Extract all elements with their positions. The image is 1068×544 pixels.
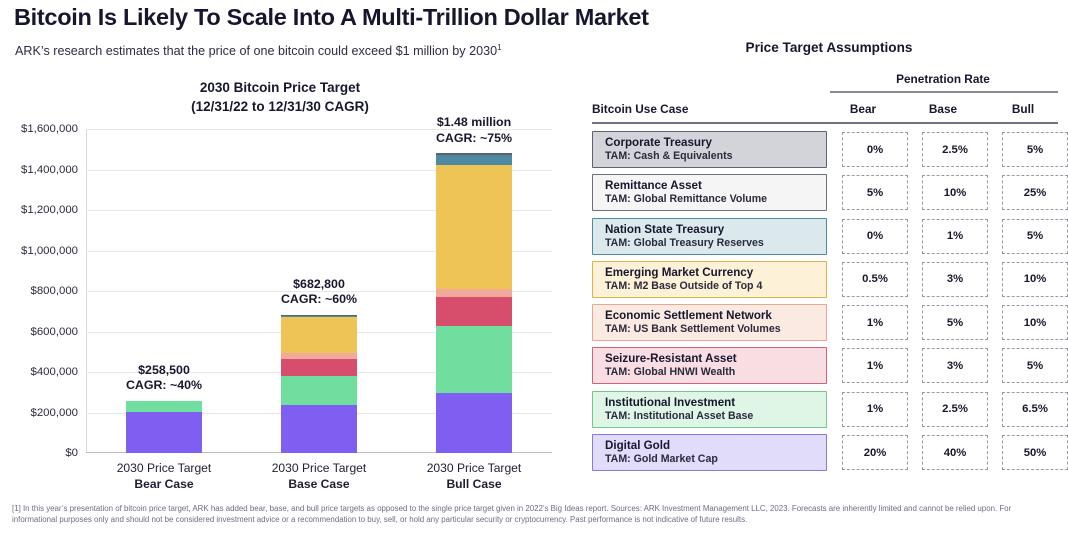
bar-segment [436,297,512,326]
penetration-rate-cell-base[interactable]: 10% [922,175,988,210]
use-case-tam: TAM: Global HNWI Wealth [605,366,826,379]
bar-total-value: $682,800 [244,277,394,293]
use-case-cell[interactable]: Emerging Market CurrencyTAM: M2 Base Out… [592,261,827,298]
penetration-rate-cell-bull[interactable]: 6.5% [1002,392,1068,427]
x-axis-category-label: 2030 Price TargetBull Case [389,461,559,492]
use-case-cell[interactable]: Economic Settlement NetworkTAM: US Bank … [592,304,827,341]
y-axis-tick-label: $400,000 [30,366,78,378]
bar-segment [281,317,357,353]
column-header-bull: Bull [990,102,1056,116]
bar-segment [281,405,357,453]
use-case-name: Nation State Treasury [605,223,826,237]
use-case-tam: TAM: Cash & Equivalents [605,150,826,163]
x-label-line2: Bear Case [134,477,193,491]
bitcoin-price-target-chart: 2030 Bitcoin Price Target (12/31/22 to 1… [0,78,570,498]
header-rule [592,122,1058,124]
bar-segment [436,165,512,289]
table-row[interactable]: Institutional InvestmentTAM: Institution… [592,391,1062,432]
penetration-rate-cell-base[interactable]: 40% [922,435,988,470]
use-case-name: Economic Settlement Network [605,309,826,323]
use-case-cell[interactable]: Remittance AssetTAM: Global Remittance V… [592,174,827,211]
penetration-rate-cell-base[interactable]: 2.5% [922,132,988,167]
y-axis-tick-label: $1,200,000 [21,204,78,216]
y-axis-tick-label: $1,600,000 [21,123,78,135]
bar-value-annotation: $258,500CAGR: ~40% [89,363,239,394]
penetration-rate-cell-bear[interactable]: 0% [842,132,908,167]
penetration-rate-cell-base[interactable]: 1% [922,219,988,254]
penetration-rate-rule [830,91,1058,93]
penetration-rate-cell-bear[interactable]: 1% [842,305,908,340]
penetration-rate-cell-bear[interactable]: 1% [842,348,908,383]
x-axis-category-label: 2030 Price TargetBear Case [79,461,249,492]
use-case-name: Seizure-Resistant Asset [605,352,826,366]
x-label-line1: 2030 Price Target [234,461,404,477]
table-row[interactable]: Corporate TreasuryTAM: Cash & Equivalent… [592,131,1062,172]
bar-segment [436,393,512,453]
penetration-rate-cell-bull[interactable]: 50% [1002,435,1068,470]
bar-segment [436,326,512,393]
subtitle-text: ARK’s research estimates that the price … [15,44,497,58]
bar-bull [436,153,512,453]
use-case-name: Institutional Investment [605,396,826,410]
table-row[interactable]: Emerging Market CurrencyTAM: M2 Base Out… [592,261,1062,302]
x-label-line1: 2030 Price Target [79,461,249,477]
bar-cagr-value: CAGR: ~60% [244,292,394,308]
bar-value-annotation: $682,800CAGR: ~60% [244,277,394,308]
penetration-rate-cell-bear[interactable]: 20% [842,435,908,470]
penetration-rate-cell-base[interactable]: 3% [922,348,988,383]
bar-segment [436,289,512,297]
use-case-column-header: Bitcoin Use Case [592,102,688,116]
bar-segment [281,376,357,405]
x-label-line1: 2030 Price Target [389,461,559,477]
table-row[interactable]: Seizure-Resistant AssetTAM: Global HNWI … [592,347,1062,388]
subtitle-footnote-marker: 1 [497,43,501,52]
page-title: Bitcoin Is Likely To Scale Into A Multi-… [14,4,649,31]
y-axis-tick-label: $1,400,000 [21,164,78,176]
x-axis-category-label: 2030 Price TargetBase Case [234,461,404,492]
penetration-rate-cell-bull[interactable]: 25% [1002,175,1068,210]
table-row[interactable]: Remittance AssetTAM: Global Remittance V… [592,174,1062,215]
bar-segment [126,401,202,412]
x-label-line2: Base Case [288,477,349,491]
y-axis-tick-label: $800,000 [30,285,78,297]
y-axis-tick-label: $1,000,000 [21,245,78,257]
penetration-rate-cell-bull[interactable]: 5% [1002,348,1068,383]
use-case-cell[interactable]: Digital GoldTAM: Gold Market Cap [592,434,827,471]
bar-base [281,315,357,453]
bar-bear [126,401,202,453]
penetration-rate-cell-base[interactable]: 3% [922,262,988,297]
penetration-rate-cell-bear[interactable]: 0% [842,219,908,254]
table-body: Corporate TreasuryTAM: Cash & Equivalent… [592,131,1062,477]
bar-segment [436,155,512,165]
column-header-bear: Bear [830,102,896,116]
column-header-base: Base [910,102,976,116]
slide-root: Bitcoin Is Likely To Scale Into A Multi-… [0,0,1068,544]
penetration-rate-cell-bull[interactable]: 5% [1002,132,1068,167]
use-case-tam: TAM: US Bank Settlement Volumes [605,323,826,336]
bar-total-value: $1.48 million [399,115,549,131]
bar-segment [281,359,357,376]
bar-cagr-value: CAGR: ~40% [89,378,239,394]
table-row[interactable]: Economic Settlement NetworkTAM: US Bank … [592,304,1062,345]
x-label-line2: Bull Case [446,477,501,491]
use-case-tam: TAM: Global Remittance Volume [605,193,826,206]
chart-plot-area: $0$200,000$400,000$600,000$800,000$1,000… [86,129,552,453]
penetration-rate-cell-bull[interactable]: 10% [1002,262,1068,297]
penetration-rate-cell-bear[interactable]: 0.5% [842,262,908,297]
bar-total-value: $258,500 [89,363,239,379]
bar-value-annotation: $1.48 millionCAGR: ~75% [399,115,549,146]
penetration-rate-group-header: Penetration Rate [828,72,1058,86]
penetration-rate-cell-bull[interactable]: 10% [1002,305,1068,340]
table-row[interactable]: Nation State TreasuryTAM: Global Treasur… [592,218,1062,259]
y-axis-tick-label: $200,000 [30,407,78,419]
penetration-rate-cell-bear[interactable]: 1% [842,392,908,427]
penetration-rate-cell-base[interactable]: 2.5% [922,392,988,427]
use-case-cell[interactable]: Corporate TreasuryTAM: Cash & Equivalent… [592,131,827,168]
penetration-rate-cell-bear[interactable]: 5% [842,175,908,210]
footnote: [1] In this year’s presentation of bitco… [12,503,1058,526]
use-case-name: Corporate Treasury [605,136,826,150]
use-case-cell[interactable]: Seizure-Resistant AssetTAM: Global HNWI … [592,347,827,384]
table-row[interactable]: Digital GoldTAM: Gold Market Cap20%40%50… [592,434,1062,475]
bar-segment [126,412,202,454]
use-case-tam: TAM: Gold Market Cap [605,453,826,466]
y-axis-tick-label: $0 [65,447,78,459]
chart-title: 2030 Bitcoin Price Target [0,78,560,97]
page-subtitle: ARK’s research estimates that the price … [15,43,502,58]
use-case-name: Remittance Asset [605,179,826,193]
chart-title-block: 2030 Bitcoin Price Target (12/31/22 to 1… [0,78,560,116]
use-case-cell[interactable]: Nation State TreasuryTAM: Global Treasur… [592,218,827,255]
y-axis-tick-label: $600,000 [30,326,78,338]
use-case-name: Digital Gold [605,439,826,453]
table-title: Price Target Assumptions [590,40,1068,55]
chart-subtitle: (12/31/22 to 12/31/30 CAGR) [0,97,560,116]
penetration-rate-cell-base[interactable]: 5% [922,305,988,340]
bar-cagr-value: CAGR: ~75% [399,131,549,147]
use-case-name: Emerging Market Currency [605,266,826,280]
use-case-cell[interactable]: Institutional InvestmentTAM: Institution… [592,391,827,428]
use-case-tam: TAM: Institutional Asset Base [605,410,826,423]
use-case-tam: TAM: Global Treasury Reserves [605,237,826,250]
price-target-assumptions-table: Price Target Assumptions Penetration Rat… [580,40,1068,55]
penetration-rate-cell-bull[interactable]: 5% [1002,219,1068,254]
use-case-tam: TAM: M2 Base Outside of Top 4 [605,280,826,293]
